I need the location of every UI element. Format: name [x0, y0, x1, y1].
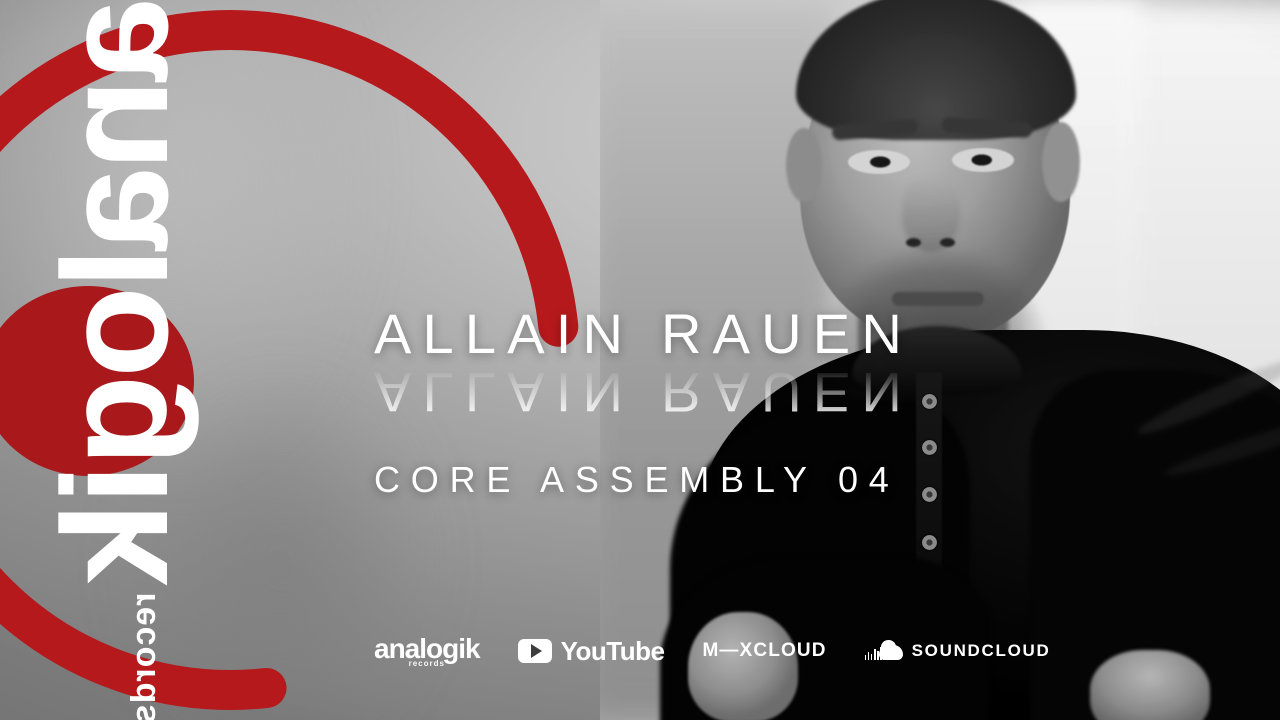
soundcloud-label: SOUNDCLOUD	[912, 641, 1051, 661]
analogik-logo-icon: analogik records	[374, 635, 480, 668]
youtube-label: YouTube	[561, 636, 665, 667]
artist-name: ALLAIN RAUEN	[374, 306, 1134, 362]
footer-mixcloud-link[interactable]: M—XCLOUD	[702, 640, 826, 662]
footer-analogik-sub: records	[409, 660, 445, 668]
cloud-shape-icon	[879, 645, 903, 660]
footer-analogik-logo[interactable]: analogik records	[374, 635, 480, 668]
release-title: CORE ASSEMBLY 04	[374, 462, 1134, 498]
youtube-play-icon	[518, 639, 552, 663]
footer-soundcloud-link[interactable]: SOUNDCLOUD	[865, 641, 1051, 661]
artist-name-reflection: ALLAIN RAUEN	[374, 364, 1134, 420]
footer-youtube-link[interactable]: YouTube	[518, 636, 665, 667]
soundcloud-cloud-icon	[865, 643, 903, 660]
mixcloud-label: M—XCLOUD	[702, 640, 826, 662]
title-block: ALLAIN RAUEN ALLAIN RAUEN CORE ASSEMBLY …	[374, 306, 1134, 498]
social-links-bar: analogik records YouTube M—XCLOUD SOU	[374, 628, 1050, 674]
album-art-canvas: analogik records ALLAIN RAUEN ALLAIN RAU…	[0, 0, 1280, 720]
play-triangle-icon	[531, 644, 542, 658]
